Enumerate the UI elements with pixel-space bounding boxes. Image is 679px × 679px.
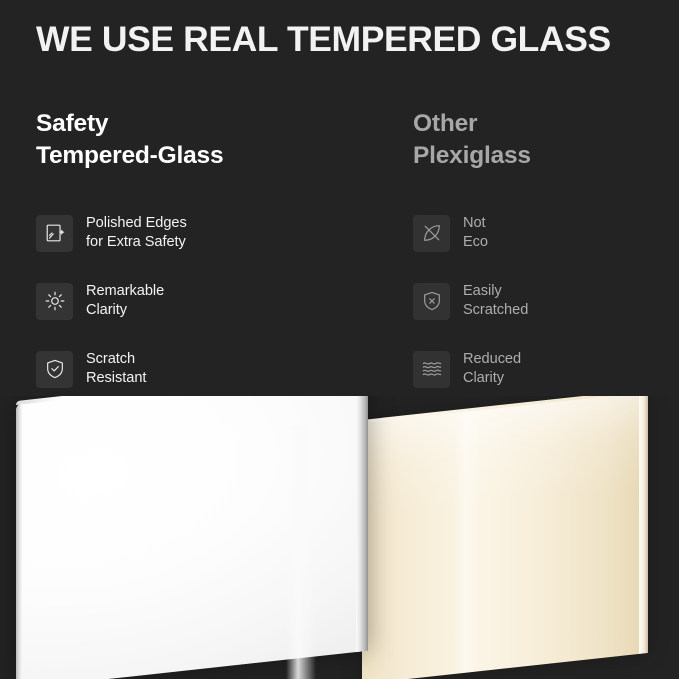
plexiglass-panel-side-edge: [639, 396, 648, 654]
feature-list-left: Polished Edges for Extra Safety Remarkab…: [36, 210, 366, 392]
leaf-crossed-out-icon: [413, 215, 450, 252]
feature-line2: Resistant: [86, 369, 146, 388]
feature-line2: Scratched: [463, 301, 528, 320]
feature-list-right: Not Eco Easily Scratched: [413, 210, 663, 392]
polished-edge-sparkle-icon: [36, 215, 73, 252]
shield-x-icon: [413, 283, 450, 320]
feature-label-remarkable-clarity: Remarkable Clarity: [86, 282, 164, 320]
column-safety-tempered-glass: Safety Tempered-Glass Polished Edges for…: [36, 108, 366, 172]
feature-row-polished-edges: Polished Edges for Extra Safety: [36, 210, 366, 256]
feature-line1: Reduced: [463, 350, 521, 369]
feature-row-reduced-clarity: Reduced Clarity: [413, 346, 663, 392]
wavy-lines-icon: [413, 351, 450, 388]
column-title-right: Other Plexiglass: [413, 108, 663, 172]
tempered-glass-panel-top-edge: [16, 396, 368, 405]
feature-line1: Easily: [463, 282, 528, 301]
column-title-left: Safety Tempered-Glass: [36, 108, 366, 172]
feature-line1: Scratch: [86, 350, 146, 369]
column-title-left-line2: Tempered-Glass: [36, 140, 366, 172]
feature-label-easily-scratched: Easily Scratched: [463, 282, 528, 320]
column-title-right-line1: Other: [413, 108, 663, 140]
feature-label-reduced-clarity: Reduced Clarity: [463, 350, 521, 388]
feature-line2: Clarity: [86, 301, 164, 320]
comparison-infographic: WE USE REAL TEMPERED GLASS Safety Temper…: [0, 0, 679, 679]
plexiglass-panel: [362, 396, 647, 679]
shield-check-icon: [36, 351, 73, 388]
tempered-glass-panel-left-edge: [16, 403, 22, 679]
feature-line2: Eco: [463, 233, 488, 252]
feature-row-easily-scratched: Easily Scratched: [413, 278, 663, 324]
feature-line1: Not: [463, 214, 488, 233]
column-other-plexiglass: Other Plexiglass Not Eco: [413, 108, 663, 172]
feature-line2: for Extra Safety: [86, 233, 187, 252]
column-title-left-line1: Safety: [36, 108, 366, 140]
sun-clarity-icon: [36, 283, 73, 320]
feature-line1: Polished Edges: [86, 214, 187, 233]
feature-label-not-eco: Not Eco: [463, 214, 488, 252]
tempered-glass-panel: [16, 396, 368, 679]
feature-line2: Clarity: [463, 369, 521, 388]
product-comparison-photo: [0, 396, 679, 679]
feature-row-not-eco: Not Eco: [413, 210, 663, 256]
feature-line1: Remarkable: [86, 282, 164, 301]
feature-row-scratch-resistant: Scratch Resistant: [36, 346, 366, 392]
feature-row-remarkable-clarity: Remarkable Clarity: [36, 278, 366, 324]
tempered-glass-panel-side-edge: [356, 396, 368, 652]
feature-label-scratch-resistant: Scratch Resistant: [86, 350, 146, 388]
page-title: WE USE REAL TEMPERED GLASS: [36, 20, 656, 59]
feature-label-polished-edges: Polished Edges for Extra Safety: [86, 214, 187, 252]
plexiglass-panel-top-edge: [362, 396, 647, 423]
column-title-right-line2: Plexiglass: [413, 140, 663, 172]
